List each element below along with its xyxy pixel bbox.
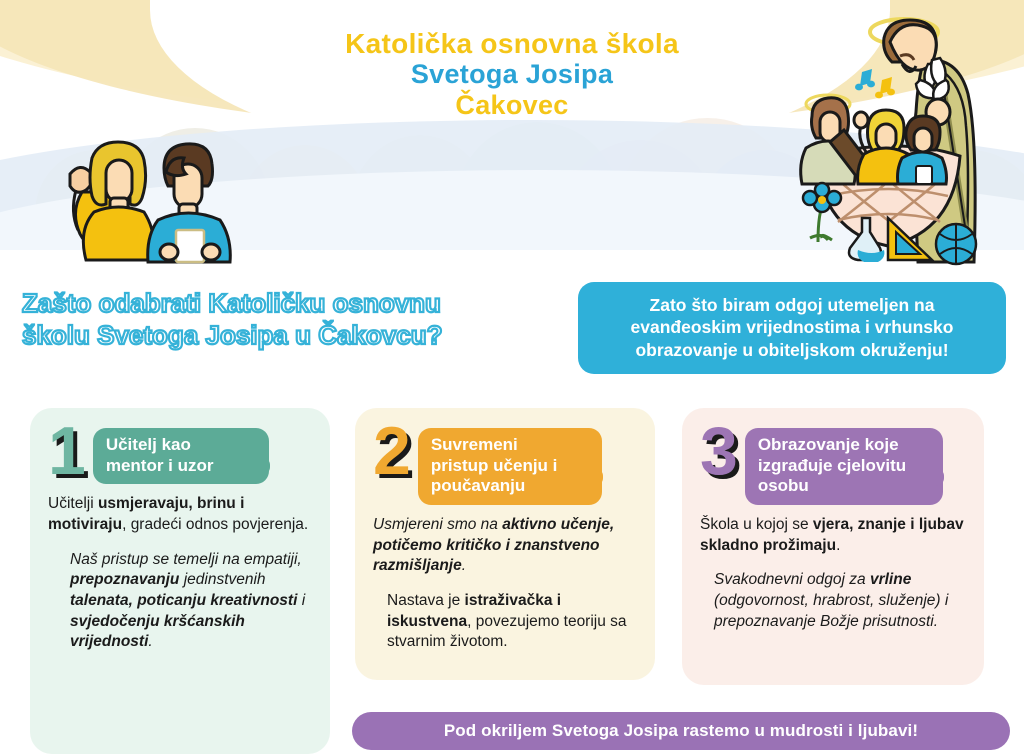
reason-card-1: 1 Učitelj kao mentor i uzor Učitelji usm… xyxy=(30,408,330,754)
card-3-p2-bold-1: vrline xyxy=(870,571,911,588)
card-1-body: Učitelji usmjeravaju, brinu i motiviraju… xyxy=(30,484,330,666)
card-1-p2-mid-1: jedinstvenih xyxy=(179,571,265,588)
card-1-paragraph-2: Naš pristup se temelji na empatiji, prep… xyxy=(48,550,312,653)
answer-callout-box: Zato što biram odgoj utemeljen na evanđe… xyxy=(578,282,1006,374)
card-2-number: 2 xyxy=(373,422,410,482)
card-1-p2-bold-1: prepoznavanju xyxy=(70,571,179,588)
card-1-title-line-1: Učitelj kao xyxy=(106,435,256,456)
card-2-title-line-1: Suvremeni xyxy=(431,435,589,456)
card-3-body: Škola u kojoj se vjera, znanje i ljubav … xyxy=(682,505,984,646)
question-line-2: školu Svetoga Josipa u Čakovcu? xyxy=(22,320,562,352)
card-1-p2-mid-2: i xyxy=(297,592,305,609)
card-2-paragraph-1: Usmjereni smo na aktivno učenje, potičem… xyxy=(373,515,637,577)
answer-line-3: obrazovanje u obiteljskom okruženju! xyxy=(592,339,992,361)
card-2-paragraph-2: Nastava je istraživačka i iskustvena, po… xyxy=(373,591,637,653)
card-1-title-pill: Učitelj kao mentor i uzor xyxy=(93,428,269,484)
card-2-p1-post: . xyxy=(462,557,466,574)
card-1-p2-bold-3: svjedočenju kršćanskih vrijednosti xyxy=(70,613,245,651)
card-1-p2-post: . xyxy=(148,633,152,650)
card-2-p1-pre: Usmjereni smo na xyxy=(373,516,502,533)
card-1-title-line-2: mentor i uzor xyxy=(106,456,256,477)
card-1-header: 1 Učitelj kao mentor i uzor xyxy=(30,408,330,484)
answer-line-1: Zato što biram odgoj utemeljen na xyxy=(592,294,992,316)
card-3-title-line-1: Obrazovanje koje xyxy=(758,435,930,456)
card-1-paragraph-1: Učitelji usmjeravaju, brinu i motiviraju… xyxy=(48,494,312,535)
card-3-p2-post: (odgovornost, hrabrost, služenje) i prep… xyxy=(714,592,948,630)
card-1-p2-bold-2: talenata, poticanju kreativnosti xyxy=(70,592,297,609)
card-3-paragraph-1: Škola u kojoj se vjera, znanje i ljubav … xyxy=(700,515,966,556)
card-3-paragraph-2: Svakodnevni odgoj za vrline (odgovornost… xyxy=(700,570,966,632)
card-2-body: Usmjereni smo na aktivno učenje, potičem… xyxy=(355,505,655,667)
card-2-title-line-3: poučavanju xyxy=(431,476,589,497)
card-3-title-pill: Obrazovanje koje izgrađuje cjelovitu oso… xyxy=(745,428,943,505)
card-2-title-line-2: pristup učenju i xyxy=(431,456,589,477)
answer-line-2: evanđeoskim vrijednostima i vrhunsko xyxy=(592,316,992,338)
question-heading: Zašto odabrati Katoličku osnovnu školu S… xyxy=(22,288,562,351)
saint-joseph-with-children-illustration xyxy=(788,8,1024,270)
card-3-p1-pre: Škola u kojoj se xyxy=(700,516,813,533)
bottom-banner: Pod okriljem Svetoga Josipa rastemo u mu… xyxy=(352,712,1010,750)
card-3-p1-post: . xyxy=(836,537,840,554)
two-children-illustration xyxy=(52,138,252,270)
bottom-banner-text: Pod okriljem Svetoga Josipa rastemo u mu… xyxy=(444,721,918,741)
card-2-title-pill: Suvremeni pristup učenju i poučavanju xyxy=(418,428,602,505)
reason-card-2: 2 Suvremeni pristup učenju i poučavanju … xyxy=(355,408,655,680)
card-3-p2-pre: Svakodnevni odgoj za xyxy=(714,571,870,588)
infographic-poster: Katolička osnovna škola Svetoga Josipa Č… xyxy=(0,0,1024,754)
card-1-p2-pre: Naš pristup se temelji na empatiji, xyxy=(70,551,302,568)
card-2-p2-pre: Nastava je xyxy=(387,592,465,609)
card-1-number: 1 xyxy=(48,422,85,482)
card-3-number: 3 xyxy=(700,422,737,482)
card-3-title-line-3: osobu xyxy=(758,476,930,497)
card-3-title-line-2: izgrađuje cjelovitu xyxy=(758,456,930,477)
card-3-header: 3 Obrazovanje koje izgrađuje cjelovitu o… xyxy=(682,408,984,505)
card-1-p1-pre: Učitelji xyxy=(48,495,98,512)
question-line-1: Zašto odabrati Katoličku osnovnu xyxy=(22,288,562,320)
card-2-header: 2 Suvremeni pristup učenju i poučavanju xyxy=(355,408,655,505)
card-1-p1-post: , gradeći odnos povjerenja. xyxy=(122,516,308,533)
reason-card-3: 3 Obrazovanje koje izgrađuje cjelovitu o… xyxy=(682,408,984,685)
